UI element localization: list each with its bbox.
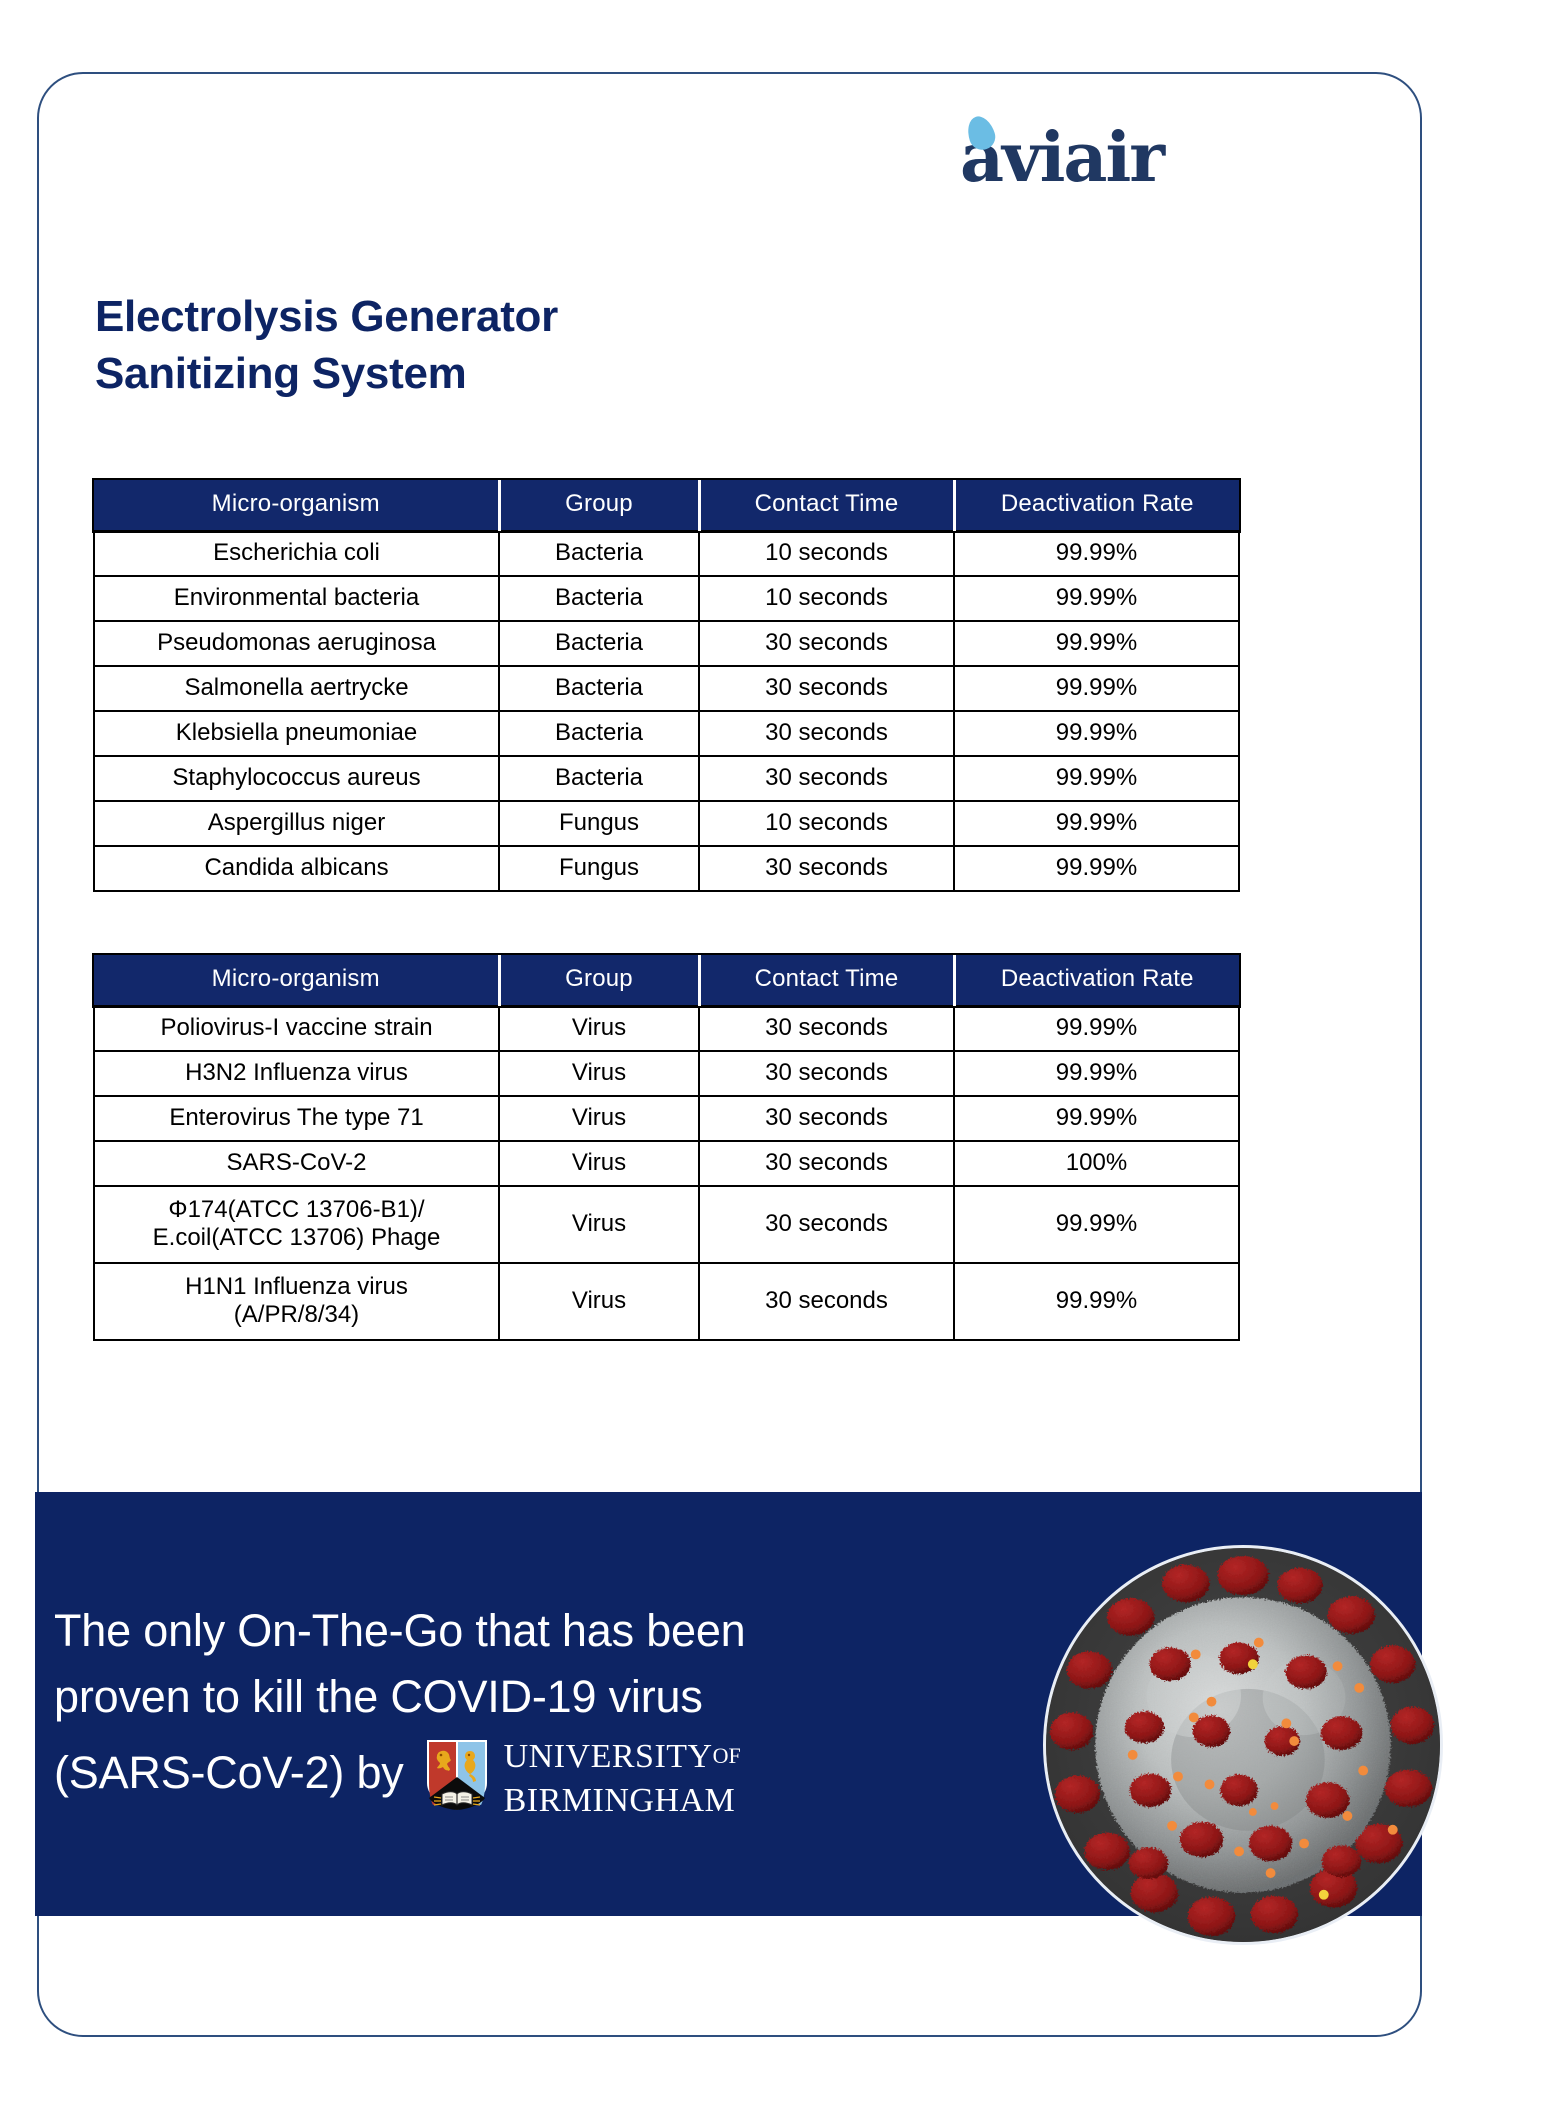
- cell-rate: 99.99%: [954, 666, 1239, 711]
- university-wordmark-line-1: UNIVERSITYOF: [504, 1738, 741, 1775]
- table-row: Poliovirus-I vaccine strain Virus 30 sec…: [94, 1006, 1239, 1051]
- university-wordmark-line-2: BIRMINGHAM: [504, 1782, 736, 1819]
- cell-group: Fungus: [499, 846, 699, 891]
- cell-organism: Candida albicans: [94, 846, 499, 891]
- column-header-group: Group: [499, 480, 699, 531]
- brand-logo: aviair: [960, 122, 1230, 194]
- cell-group: Bacteria: [499, 531, 699, 576]
- cell-organism: H3N2 Influenza virus: [94, 1051, 499, 1096]
- banner-headline-line-2: proven to kill the COVID-19 virus: [54, 1664, 984, 1730]
- cell-rate: 99.99%: [954, 1263, 1239, 1340]
- cell-group: Bacteria: [499, 756, 699, 801]
- cell-time: 30 seconds: [699, 1186, 954, 1263]
- banner-headline-line-3: (SARS-CoV-2) by: [54, 1740, 404, 1806]
- cell-group: Bacteria: [499, 621, 699, 666]
- cell-organism: Aspergillus niger: [94, 801, 499, 846]
- table-row: Environmental bacteria Bacteria 10 secon…: [94, 576, 1239, 621]
- cell-organism: Staphylococcus aureus: [94, 756, 499, 801]
- table-row: H3N2 Influenza virus Virus 30 seconds 99…: [94, 1051, 1239, 1096]
- cell-organism-line-1: Φ174(ATCC 13706-B1)/: [100, 1196, 493, 1224]
- cell-rate: 99.99%: [954, 1051, 1239, 1096]
- column-header-deactivation-rate: Deactivation Rate: [954, 480, 1239, 531]
- cell-rate: 99.99%: [954, 1096, 1239, 1141]
- cell-group: Fungus: [499, 801, 699, 846]
- cell-rate: 99.99%: [954, 531, 1239, 576]
- page-title-line-2: Sanitizing System: [95, 345, 855, 402]
- cell-time: 30 seconds: [699, 1051, 954, 1096]
- sars-cov-2-virus-image: [1043, 1545, 1443, 1945]
- cell-organism: Escherichia coli: [94, 531, 499, 576]
- cell-rate: 99.99%: [954, 756, 1239, 801]
- cell-rate: 99.99%: [954, 576, 1239, 621]
- table-row: Klebsiella pneumoniae Bacteria 30 second…: [94, 711, 1239, 756]
- cell-rate: 99.99%: [954, 621, 1239, 666]
- cell-time: 10 seconds: [699, 576, 954, 621]
- cell-group: Virus: [499, 1006, 699, 1051]
- cell-rate: 99.99%: [954, 1006, 1239, 1051]
- table-row: Candida albicans Fungus 30 seconds 99.99…: [94, 846, 1239, 891]
- table-row: H1N1 Influenza virus (A/PR/8/34) Virus 3…: [94, 1263, 1239, 1340]
- column-header-group: Group: [499, 955, 699, 1006]
- university-wordmark: UNIVERSITYOF BIRMINGHAM: [504, 1731, 741, 1817]
- cell-time: 30 seconds: [699, 756, 954, 801]
- table-row: Escherichia coli Bacteria 10 seconds 99.…: [94, 531, 1239, 576]
- cell-time: 30 seconds: [699, 1006, 954, 1051]
- column-header-contact-time: Contact Time: [699, 955, 954, 1006]
- cell-time: 10 seconds: [699, 531, 954, 576]
- cell-organism: Salmonella aertrycke: [94, 666, 499, 711]
- cell-group: Bacteria: [499, 666, 699, 711]
- cell-rate: 99.99%: [954, 1186, 1239, 1263]
- cell-time: 10 seconds: [699, 801, 954, 846]
- cell-time: 30 seconds: [699, 666, 954, 711]
- column-header-micro-organism: Micro-organism: [94, 955, 499, 1006]
- cell-group: Bacteria: [499, 576, 699, 621]
- university-crest-icon: [426, 1739, 488, 1811]
- university-of-birmingham-logo: UNIVERSITYOF BIRMINGHAM: [426, 1731, 741, 1817]
- virus-illustration: [1046, 1548, 1440, 1942]
- cell-group: Virus: [499, 1096, 699, 1141]
- cell-organism: SARS-CoV-2: [94, 1141, 499, 1186]
- university-name-word: UNIVERSITY: [504, 1738, 713, 1775]
- page-title-line-1: Electrolysis Generator: [95, 288, 855, 345]
- banner-headline: The only On-The-Go that has been proven …: [54, 1598, 984, 1816]
- table-row: Enterovirus The type 71 Virus 30 seconds…: [94, 1096, 1239, 1141]
- banner-headline-line-1: The only On-The-Go that has been: [54, 1598, 984, 1664]
- cell-organism: Environmental bacteria: [94, 576, 499, 621]
- cell-group: Virus: [499, 1186, 699, 1263]
- table-row: Staphylococcus aureus Bacteria 30 second…: [94, 756, 1239, 801]
- cell-organism: Φ174(ATCC 13706-B1)/ E.coil(ATCC 13706) …: [94, 1186, 499, 1263]
- column-header-contact-time: Contact Time: [699, 480, 954, 531]
- cell-group: Virus: [499, 1263, 699, 1340]
- cell-organism: Pseudomonas aeruginosa: [94, 621, 499, 666]
- cell-organism: Poliovirus-I vaccine strain: [94, 1006, 499, 1051]
- university-of-word: OF: [713, 1743, 741, 1768]
- cell-organism-line-2: E.coil(ATCC 13706) Phage: [100, 1224, 493, 1252]
- column-header-deactivation-rate: Deactivation Rate: [954, 955, 1239, 1006]
- brand-logo-text: aviair: [960, 122, 1230, 194]
- table-row: Salmonella aertrycke Bacteria 30 seconds…: [94, 666, 1239, 711]
- cell-rate: 99.99%: [954, 801, 1239, 846]
- table-row: Pseudomonas aeruginosa Bacteria 30 secon…: [94, 621, 1239, 666]
- cell-time: 30 seconds: [699, 621, 954, 666]
- cell-rate: 99.99%: [954, 846, 1239, 891]
- column-header-micro-organism: Micro-organism: [94, 480, 499, 531]
- banner-headline-line-3-wrap: (SARS-CoV-2) by: [54, 1729, 984, 1815]
- table-row: SARS-CoV-2 Virus 30 seconds 100%: [94, 1141, 1239, 1186]
- cell-group: Virus: [499, 1051, 699, 1096]
- cell-time: 30 seconds: [699, 1096, 954, 1141]
- virus-results-table: Micro-organism Group Contact Time Deacti…: [93, 955, 1240, 1341]
- cell-group: Bacteria: [499, 711, 699, 756]
- cell-rate: 99.99%: [954, 711, 1239, 756]
- cell-rate: 100%: [954, 1141, 1239, 1186]
- table-header-row: Micro-organism Group Contact Time Deacti…: [94, 955, 1239, 1006]
- cell-time: 30 seconds: [699, 1263, 954, 1340]
- cell-organism-line-2: (A/PR/8/34): [100, 1301, 493, 1329]
- page-title: Electrolysis Generator Sanitizing System: [95, 288, 855, 402]
- table-row: Aspergillus niger Fungus 10 seconds 99.9…: [94, 801, 1239, 846]
- cell-organism-line-1: H1N1 Influenza virus: [100, 1273, 493, 1301]
- cell-organism: Klebsiella pneumoniae: [94, 711, 499, 756]
- bacteria-results-table: Micro-organism Group Contact Time Deacti…: [93, 480, 1240, 892]
- cell-time: 30 seconds: [699, 711, 954, 756]
- table-header-row: Micro-organism Group Contact Time Deacti…: [94, 480, 1239, 531]
- cell-group: Virus: [499, 1141, 699, 1186]
- cell-organism: Enterovirus The type 71: [94, 1096, 499, 1141]
- cell-organism: H1N1 Influenza virus (A/PR/8/34): [94, 1263, 499, 1340]
- cell-time: 30 seconds: [699, 846, 954, 891]
- cell-time: 30 seconds: [699, 1141, 954, 1186]
- table-row: Φ174(ATCC 13706-B1)/ E.coil(ATCC 13706) …: [94, 1186, 1239, 1263]
